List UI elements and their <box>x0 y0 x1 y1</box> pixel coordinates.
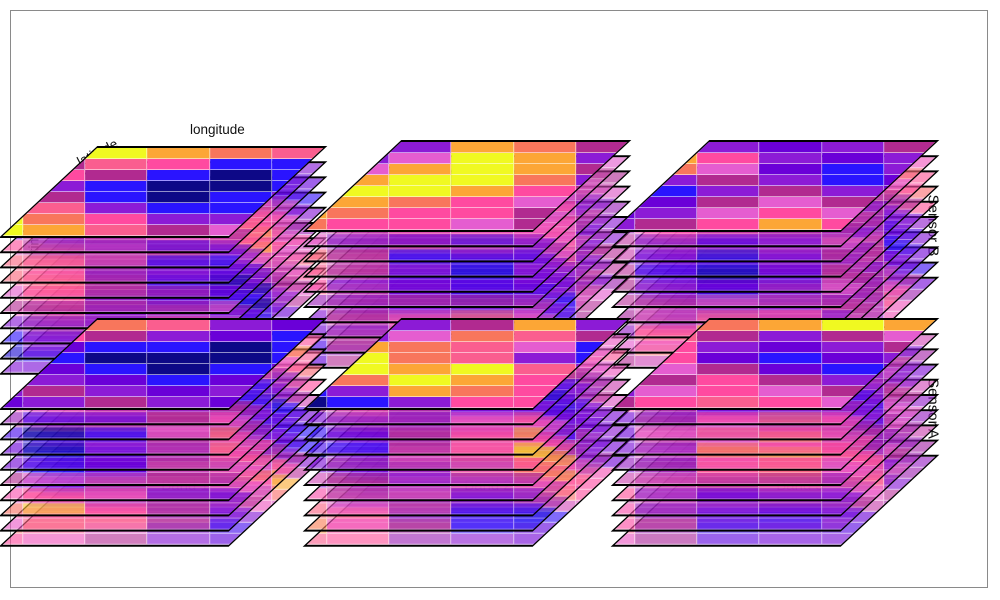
raster-cell <box>884 320 939 331</box>
layer-stack-sensorA-band1 <box>48 318 348 488</box>
raster-cell <box>760 175 822 186</box>
raster-cell <box>328 443 390 454</box>
raster-cell <box>328 249 390 260</box>
raster-cell <box>514 331 576 342</box>
raster-cell <box>328 534 390 545</box>
raster-cell <box>86 503 148 514</box>
raster-cell <box>86 255 148 266</box>
raster-cell <box>0 458 24 469</box>
layer-top <box>48 318 278 410</box>
raster-cell <box>210 181 272 192</box>
raster-cell <box>328 519 390 530</box>
raster-cell <box>636 265 698 276</box>
raster-cell <box>390 353 452 364</box>
raster-cell <box>148 342 210 353</box>
raster-cell <box>698 331 760 342</box>
raster-cell <box>148 443 210 454</box>
raster-cell <box>698 375 760 386</box>
raster-cell <box>822 488 884 499</box>
raster-cell <box>390 320 452 331</box>
raster-cell <box>636 208 698 219</box>
raster-cell <box>86 331 148 342</box>
raster-cell <box>390 234 452 245</box>
raster-cell <box>698 153 760 164</box>
raster-cell <box>452 249 514 260</box>
raster-cell <box>0 240 24 251</box>
raster-cell <box>636 519 698 530</box>
raster-cell <box>210 192 272 203</box>
raster-cell <box>698 320 760 331</box>
raster-cell <box>86 342 148 353</box>
raster-cell <box>698 197 760 208</box>
layer-stack-sensorA-band2 <box>352 318 652 488</box>
raster-cell <box>698 175 760 186</box>
raster-cell <box>698 443 760 454</box>
raster-cell <box>822 458 884 469</box>
raster-cell <box>636 280 698 291</box>
raster-cell <box>636 197 698 208</box>
raster-cell <box>452 353 514 364</box>
raster-cell <box>452 219 514 230</box>
raster-cell <box>148 353 210 364</box>
raster-cell <box>514 353 576 364</box>
raster-cell <box>210 386 272 397</box>
raster-cell <box>148 203 210 214</box>
raster-cell <box>760 375 822 386</box>
raster-cell <box>210 458 272 469</box>
raster-cell <box>210 473 272 484</box>
raster-cell <box>452 386 514 397</box>
raster-cell <box>452 534 514 545</box>
raster-cell <box>698 142 760 153</box>
raster-cell <box>328 488 390 499</box>
raster-cell <box>86 473 148 484</box>
raster-cell <box>24 203 86 214</box>
raster-cell <box>210 519 272 530</box>
raster-cell <box>390 488 452 499</box>
raster-cell <box>24 427 86 438</box>
raster-cell <box>86 192 148 203</box>
raster-cell <box>698 519 760 530</box>
raster-cell <box>636 295 698 306</box>
raster-cell <box>390 153 452 164</box>
raster-cell <box>210 170 272 181</box>
layer-top <box>48 146 278 238</box>
raster-cell <box>884 142 939 153</box>
raster-cell <box>210 214 272 225</box>
layer-top <box>660 140 890 232</box>
raster-cell <box>636 249 698 260</box>
raster-cell <box>0 255 24 266</box>
raster-cell <box>390 342 452 353</box>
raster-cell <box>514 375 576 386</box>
raster-cell <box>0 316 24 327</box>
raster-cell <box>698 427 760 438</box>
raster-cell <box>210 301 272 312</box>
raster-cell <box>0 503 24 514</box>
raster-cell <box>698 249 760 260</box>
raster-cell <box>148 412 210 423</box>
raster-cell <box>328 427 390 438</box>
raster-cell <box>760 265 822 276</box>
raster-cell <box>822 153 884 164</box>
raster-cell <box>390 473 452 484</box>
raster-cell <box>24 214 86 225</box>
raster-cell <box>452 295 514 306</box>
raster-cell <box>514 153 576 164</box>
raster-cell <box>636 234 698 245</box>
raster-cell <box>148 458 210 469</box>
raster-cell <box>760 142 822 153</box>
raster-cell <box>514 534 576 545</box>
raster-cell <box>210 271 272 282</box>
raster-cell <box>452 164 514 175</box>
raster-cell <box>210 240 272 251</box>
raster-cell <box>760 386 822 397</box>
raster-cell <box>390 397 452 408</box>
axis-label-longitude-text: longitude <box>190 122 245 137</box>
raster-cell <box>514 443 576 454</box>
raster-cell <box>148 427 210 438</box>
raster-cell <box>698 208 760 219</box>
raster-cell <box>822 175 884 186</box>
raster-cell <box>514 197 576 208</box>
raster-cell <box>452 488 514 499</box>
raster-cell <box>452 153 514 164</box>
raster-cell <box>86 519 148 530</box>
raster-cell <box>822 534 884 545</box>
raster-cell <box>760 249 822 260</box>
raster-cell <box>210 353 272 364</box>
raster-cell <box>452 234 514 245</box>
raster-cell <box>760 364 822 375</box>
raster-cell <box>390 175 452 186</box>
raster-cell <box>328 412 390 423</box>
raster-cell <box>328 503 390 514</box>
raster-cell <box>86 320 148 331</box>
raster-cell <box>390 534 452 545</box>
raster-cell <box>390 164 452 175</box>
raster-cell <box>24 386 86 397</box>
raster-cell <box>452 427 514 438</box>
raster-cell <box>452 412 514 423</box>
raster-cell <box>822 375 884 386</box>
raster-cell <box>328 280 390 291</box>
raster-cell <box>390 427 452 438</box>
raster-cell <box>0 225 24 236</box>
raster-cell <box>452 364 514 375</box>
raster-cell <box>452 342 514 353</box>
raster-cell <box>390 208 452 219</box>
raster-cell <box>148 320 210 331</box>
raster-cell <box>452 375 514 386</box>
layer-stack-sensorA-band3 <box>660 318 960 488</box>
raster-cell <box>514 397 576 408</box>
raster-cell <box>390 280 452 291</box>
raster-cell <box>514 320 576 331</box>
raster-cell <box>86 397 148 408</box>
raster-cell <box>24 473 86 484</box>
raster-cell <box>390 186 452 197</box>
figure-canvas: longitude latitude time Band 1 Band 2 Ba… <box>0 0 1000 600</box>
raster-cell <box>760 519 822 530</box>
raster-cell <box>86 427 148 438</box>
raster-cell <box>636 534 698 545</box>
layer-top <box>352 140 582 232</box>
raster-cell <box>822 234 884 245</box>
raster-cell <box>390 142 452 153</box>
raster-cell <box>148 534 210 545</box>
raster-cell <box>636 412 698 423</box>
raster-cell <box>148 519 210 530</box>
raster-cell <box>822 280 884 291</box>
raster-cell <box>760 342 822 353</box>
raster-cell <box>698 219 760 230</box>
raster-cell <box>272 148 327 159</box>
raster-cell <box>210 331 272 342</box>
raster-cell <box>760 412 822 423</box>
raster-cell <box>514 164 576 175</box>
raster-cell <box>0 301 24 312</box>
raster-cell <box>0 362 24 373</box>
raster-cell <box>514 412 576 423</box>
raster-cell <box>24 443 86 454</box>
raster-cell <box>390 458 452 469</box>
raster-cell <box>86 240 148 251</box>
raster-cell <box>390 519 452 530</box>
raster-cell <box>148 375 210 386</box>
raster-cell <box>760 397 822 408</box>
raster-cell <box>760 280 822 291</box>
raster-cell <box>514 427 576 438</box>
layer-top <box>352 318 582 410</box>
raster-cell <box>822 142 884 153</box>
raster-cell <box>822 208 884 219</box>
raster-cell <box>210 225 272 236</box>
raster-cell <box>636 219 698 230</box>
raster-cell <box>148 240 210 251</box>
raster-cell <box>0 286 24 297</box>
raster-cell <box>24 375 86 386</box>
raster-cell <box>822 503 884 514</box>
raster-cell <box>390 265 452 276</box>
raster-cell <box>514 458 576 469</box>
raster-cell <box>760 427 822 438</box>
raster-cell <box>822 249 884 260</box>
raster-cell <box>390 249 452 260</box>
raster-cell <box>86 534 148 545</box>
raster-cell <box>760 153 822 164</box>
raster-cell <box>210 203 272 214</box>
raster-cell <box>86 488 148 499</box>
raster-cell <box>636 397 698 408</box>
raster-cell <box>636 386 698 397</box>
raster-cell <box>698 503 760 514</box>
raster-cell <box>86 443 148 454</box>
raster-cell <box>760 458 822 469</box>
raster-cell <box>452 265 514 276</box>
raster-cell <box>24 271 86 282</box>
raster-cell <box>148 364 210 375</box>
raster-cell <box>328 375 390 386</box>
raster-cell <box>698 488 760 499</box>
raster-cell <box>210 503 272 514</box>
raster-cell <box>514 342 576 353</box>
raster-cell <box>698 342 760 353</box>
raster-cell <box>636 458 698 469</box>
raster-cell <box>24 519 86 530</box>
raster-cell <box>210 443 272 454</box>
raster-cell <box>148 386 210 397</box>
raster-cell <box>760 186 822 197</box>
raster-cell <box>760 320 822 331</box>
raster-cell <box>822 219 884 230</box>
raster-cell <box>210 320 272 331</box>
raster-cell <box>328 234 390 245</box>
raster-cell <box>86 271 148 282</box>
raster-cell <box>452 280 514 291</box>
raster-cell <box>210 159 272 170</box>
raster-cell <box>390 375 452 386</box>
raster-cell <box>760 488 822 499</box>
raster-cell <box>760 208 822 219</box>
raster-cell <box>210 364 272 375</box>
raster-cell <box>514 265 576 276</box>
raster-cell <box>822 265 884 276</box>
raster-cell <box>822 320 884 331</box>
raster-cell <box>210 148 272 159</box>
raster-cell <box>24 397 86 408</box>
raster-cell <box>760 503 822 514</box>
raster-cell <box>24 255 86 266</box>
raster-cell <box>390 295 452 306</box>
raster-cell <box>210 375 272 386</box>
raster-cell <box>148 192 210 203</box>
raster-cell <box>86 225 148 236</box>
raster-cell <box>0 331 24 342</box>
raster-cell <box>24 240 86 251</box>
raster-cell <box>514 473 576 484</box>
raster-cell <box>390 412 452 423</box>
raster-cell <box>760 234 822 245</box>
raster-cell <box>760 534 822 545</box>
raster-cell <box>452 175 514 186</box>
raster-cell <box>210 286 272 297</box>
raster-cell <box>0 473 24 484</box>
raster-cell <box>148 473 210 484</box>
raster-cell <box>86 203 148 214</box>
raster-cell <box>698 364 760 375</box>
raster-cell <box>822 295 884 306</box>
axis-label-longitude: longitude <box>190 122 245 137</box>
raster-cell <box>86 148 148 159</box>
raster-cell <box>210 412 272 423</box>
raster-cell <box>0 397 24 408</box>
raster-cell <box>822 412 884 423</box>
raster-cell <box>24 412 86 423</box>
raster-cell <box>0 347 24 358</box>
raster-cell <box>0 427 24 438</box>
raster-cell <box>698 534 760 545</box>
raster-cell <box>698 353 760 364</box>
raster-cell <box>822 519 884 530</box>
raster-cell <box>210 427 272 438</box>
raster-cell <box>760 197 822 208</box>
raster-cell <box>452 458 514 469</box>
raster-cell <box>698 164 760 175</box>
raster-cell <box>452 197 514 208</box>
raster-cell <box>390 443 452 454</box>
raster-cell <box>822 197 884 208</box>
raster-cell <box>390 197 452 208</box>
raster-cell <box>86 364 148 375</box>
raster-cell <box>698 386 760 397</box>
raster-cell <box>514 249 576 260</box>
raster-cell <box>24 488 86 499</box>
raster-cell <box>822 331 884 342</box>
raster-cell <box>86 214 148 225</box>
raster-cell <box>210 534 272 545</box>
raster-cell <box>210 488 272 499</box>
raster-cell <box>698 234 760 245</box>
raster-cell <box>24 286 86 297</box>
raster-cell <box>0 519 24 530</box>
raster-cell <box>514 280 576 291</box>
raster-cell <box>328 397 390 408</box>
raster-cell <box>760 331 822 342</box>
raster-cell <box>148 214 210 225</box>
raster-cell <box>822 427 884 438</box>
raster-cell <box>0 488 24 499</box>
raster-cell <box>760 443 822 454</box>
layer-stack-sensorB-band2 <box>352 140 652 310</box>
layer-top <box>660 318 890 410</box>
raster-cell <box>514 208 576 219</box>
raster-cell <box>452 397 514 408</box>
raster-cell <box>328 197 390 208</box>
raster-cell <box>86 458 148 469</box>
raster-cell <box>636 503 698 514</box>
raster-cell <box>390 386 452 397</box>
raster-cell <box>452 142 514 153</box>
raster-cell <box>514 142 576 153</box>
raster-cell <box>148 181 210 192</box>
raster-cell <box>390 503 452 514</box>
raster-cell <box>636 443 698 454</box>
raster-cell <box>86 181 148 192</box>
raster-cell <box>86 353 148 364</box>
raster-cell <box>210 397 272 408</box>
raster-cell <box>636 488 698 499</box>
raster-cell <box>148 271 210 282</box>
raster-cell <box>822 353 884 364</box>
raster-cell <box>698 186 760 197</box>
raster-cell <box>698 458 760 469</box>
raster-cell <box>148 488 210 499</box>
raster-cell <box>760 295 822 306</box>
raster-cell <box>514 186 576 197</box>
raster-cell <box>822 342 884 353</box>
raster-cell <box>452 320 514 331</box>
raster-cell <box>636 427 698 438</box>
raster-cell <box>148 255 210 266</box>
raster-cell <box>24 534 86 545</box>
raster-cell <box>148 397 210 408</box>
raster-cell <box>0 534 24 545</box>
raster-cell <box>514 295 576 306</box>
raster-cell <box>452 331 514 342</box>
raster-cell <box>514 175 576 186</box>
